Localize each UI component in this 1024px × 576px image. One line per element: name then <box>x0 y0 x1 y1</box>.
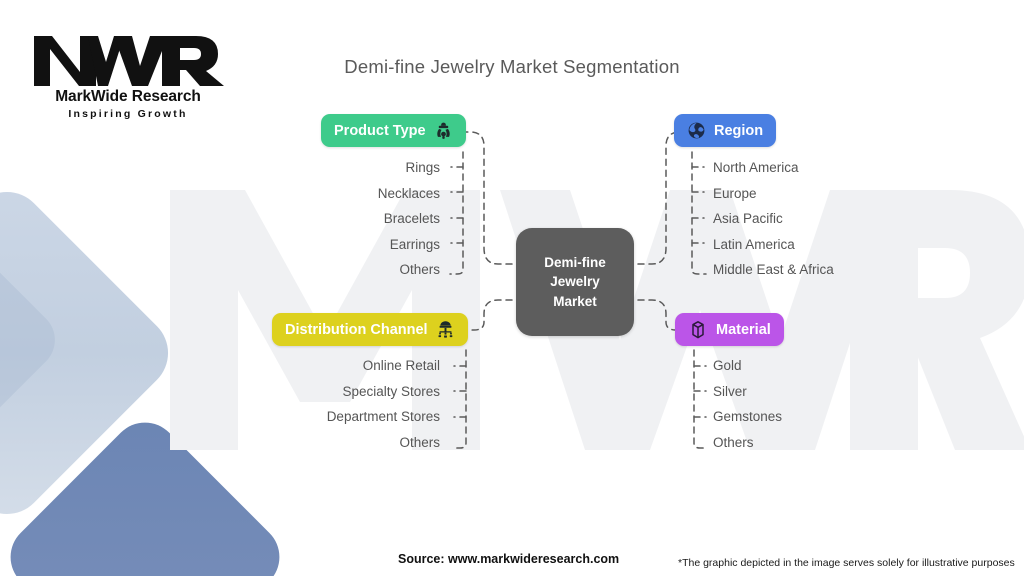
center-node-line-1: Demi-fine <box>544 253 606 272</box>
center-node-line-2: Jewelry <box>550 272 600 291</box>
branch-badge-product-type[interactable]: Product Type <box>321 114 466 147</box>
leaf-item-product-type-1[interactable]: Necklaces <box>240 181 440 207</box>
leaf-item-product-type-3[interactable]: Earrings <box>240 232 440 258</box>
cylinder-block-icon <box>688 320 708 340</box>
leaf-item-distribution-channel-3[interactable]: Others <box>180 430 440 456</box>
link-center-product <box>460 132 512 264</box>
link-spine-region <box>692 152 706 274</box>
leaf-item-product-type-4[interactable]: Others <box>240 257 440 283</box>
leaf-item-product-type-0[interactable]: Rings <box>240 155 440 181</box>
leaf-item-product-type-2[interactable]: Bracelets <box>240 206 440 232</box>
leaf-list-product-type: RingsNecklacesBraceletsEarringsOthers <box>240 155 440 283</box>
leaf-item-material-3[interactable]: Others <box>713 430 913 456</box>
branch-badge-region[interactable]: Region <box>674 114 776 147</box>
branch-label-distribution-channel: Distribution Channel <box>285 322 428 338</box>
leaf-item-region-2[interactable]: Asia Pacific <box>713 206 973 232</box>
connector-lines <box>0 0 1024 576</box>
diagram-canvas: MarkWide Research Inspiring Growth Demi-… <box>0 0 1024 576</box>
leaf-item-distribution-channel-0[interactable]: Online Retail <box>180 353 440 379</box>
link-spine-material <box>694 350 707 448</box>
leaf-list-distribution-channel: Online RetailSpecialty StoresDepartment … <box>180 353 440 455</box>
branch-badge-material[interactable]: Material <box>675 313 784 346</box>
distribution-network-icon <box>436 320 455 339</box>
leaf-item-region-3[interactable]: Latin America <box>713 232 973 258</box>
leaf-list-material: GoldSilverGemstonesOthers <box>713 353 913 455</box>
leaf-item-region-4[interactable]: Middle East & Africa <box>713 257 973 283</box>
leaf-item-distribution-channel-1[interactable]: Specialty Stores <box>180 379 440 405</box>
center-node[interactable]: Demi-fine Jewelry Market <box>516 228 634 336</box>
branch-label-product-type: Product Type <box>334 123 426 139</box>
leaf-item-distribution-channel-2[interactable]: Department Stores <box>180 404 440 430</box>
branch-label-material: Material <box>716 322 771 338</box>
branch-label-region: Region <box>714 123 763 139</box>
leaf-item-region-1[interactable]: Europe <box>713 181 973 207</box>
source-text: Source: www.markwideresearch.com <box>398 552 619 566</box>
leaf-list-region: North AmericaEuropeAsia PacificLatin Ame… <box>713 155 973 283</box>
necklace-icon <box>434 121 453 140</box>
branch-badge-distribution-channel[interactable]: Distribution Channel <box>272 313 468 346</box>
leaf-item-material-2[interactable]: Gemstones <box>713 404 913 430</box>
center-node-line-3: Market <box>553 292 597 311</box>
link-center-region <box>638 132 690 264</box>
link-spine-distribution <box>453 350 466 448</box>
leaf-item-material-1[interactable]: Silver <box>713 379 913 405</box>
link-center-distribution <box>462 300 512 330</box>
globe-icon <box>687 121 706 140</box>
disclaimer-text: *The graphic depicted in the image serve… <box>678 557 1015 569</box>
link-spine-product <box>450 152 463 274</box>
leaf-item-material-0[interactable]: Gold <box>713 353 913 379</box>
leaf-item-region-0[interactable]: North America <box>713 155 973 181</box>
